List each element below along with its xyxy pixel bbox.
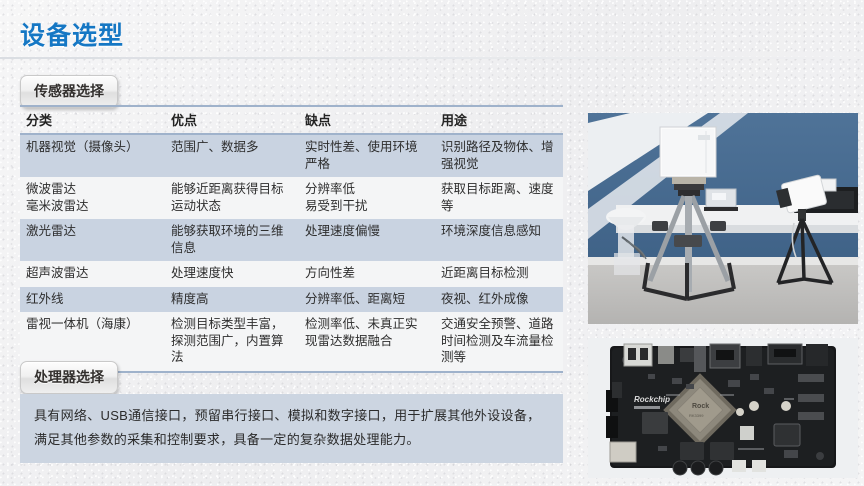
cell-usage: 获取目标距离、速度等 — [435, 177, 563, 219]
sensor-comparison-table: 分类 优点 缺点 用途 机器视觉（摄像头） 范围广、数据多 实时性差、使用环境严… — [20, 105, 563, 373]
table-row: 机器视觉（摄像头） 范围广、数据多 实时性差、使用环境严格 识别路径及物体、增强… — [20, 134, 563, 177]
svg-text:Rock: Rock — [692, 403, 709, 410]
page-title: 设备选型 — [20, 16, 124, 52]
cell-cons: 方向性差 — [299, 261, 435, 287]
cell-pros: 精度高 — [165, 287, 299, 313]
title-divider — [0, 57, 864, 59]
cell-pros: 检测目标类型丰富，探测范围广，内置算法 — [165, 312, 299, 372]
photo-processor-board: Rockchip Rock RK3399 — [588, 338, 858, 478]
cell-cons: 实时性差、使用环境严格 — [299, 134, 435, 177]
cell-cons: 处理速度偏慢 — [299, 219, 435, 261]
cell-pros: 范围广、数据多 — [165, 134, 299, 177]
cell-category: 超声波雷达 — [20, 261, 165, 287]
table-row: 激光雷达 能够获取环境的三维信息 处理速度偏慢 环境深度信息感知 — [20, 219, 563, 261]
processor-description: 具有网络、USB通信接口，预留串行接口、模拟和数字接口，用于扩展其他外设设备，满… — [20, 394, 563, 463]
svg-text:Rockchip: Rockchip — [634, 395, 670, 404]
cell-category: 机器视觉（摄像头） — [20, 134, 165, 177]
table-row: 微波雷达毫米波雷达 能够近距离获得目标运动状态 分辨率低易受到干扰 获取目标距离… — [20, 177, 563, 219]
cell-usage: 近距离目标检测 — [435, 261, 563, 287]
table-header-pros: 优点 — [165, 106, 299, 134]
cell-usage: 交通安全预警、道路时间检测及车流量检测等 — [435, 312, 563, 372]
table-header-category: 分类 — [20, 106, 165, 134]
cell-cons: 检测率低、未真正实现雷达数据融合 — [299, 312, 435, 372]
cell-usage: 识别路径及物体、增强视觉 — [435, 134, 563, 177]
svg-text:RK3399: RK3399 — [689, 413, 704, 418]
cell-pros: 能够获取环境的三维信息 — [165, 219, 299, 261]
table-row: 超声波雷达 处理速度快 方向性差 近距离目标检测 — [20, 261, 563, 287]
cell-category: 激光雷达 — [20, 219, 165, 261]
table-header-usage: 用途 — [435, 106, 563, 134]
cell-cons: 分辨率低、距离短 — [299, 287, 435, 313]
table-header-cons: 缺点 — [299, 106, 435, 134]
table-header-row: 分类 优点 缺点 用途 — [20, 106, 563, 134]
cell-category: 红外线 — [20, 287, 165, 313]
section-heading-sensor: 传感器选择 — [20, 75, 118, 108]
cell-usage: 环境深度信息感知 — [435, 219, 563, 261]
cell-usage: 夜视、红外成像 — [435, 287, 563, 313]
cell-category: 微波雷达毫米波雷达 — [20, 177, 165, 219]
cell-pros: 处理速度快 — [165, 261, 299, 287]
section-heading-processor: 处理器选择 — [20, 361, 118, 394]
cell-pros: 能够近距离获得目标运动状态 — [165, 177, 299, 219]
cell-cons: 分辨率低易受到干扰 — [299, 177, 435, 219]
photo-sensor-equipment — [588, 113, 858, 324]
table-row: 红外线 精度高 分辨率低、距离短 夜视、红外成像 — [20, 287, 563, 313]
